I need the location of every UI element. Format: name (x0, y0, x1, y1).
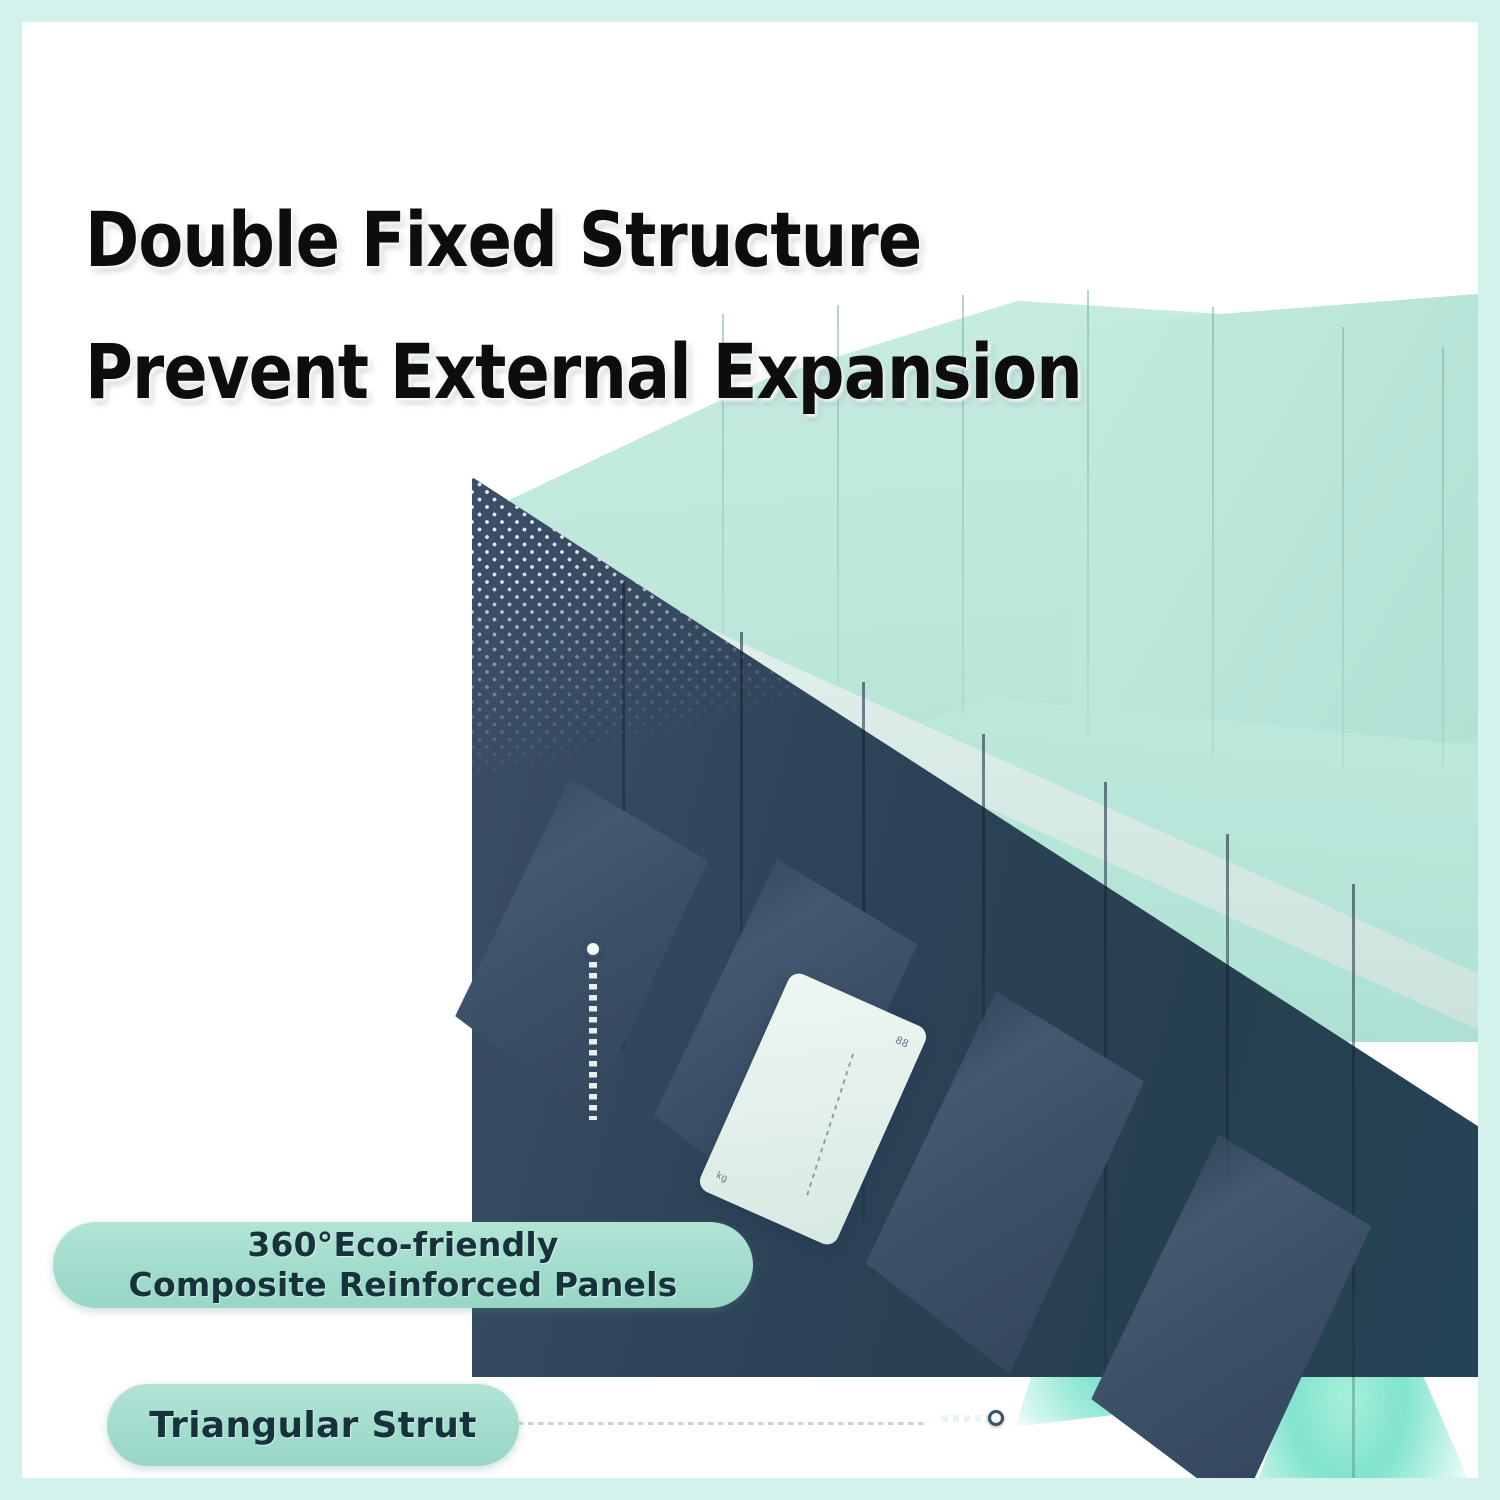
image-border-frame: 88 kg Double Fixed Structure Prevent Ext… (0, 0, 1500, 1500)
horizontal-dotted-leader (942, 1415, 990, 1422)
headline-line-2: Prevent External Expansion (85, 334, 1169, 410)
circle-marker (584, 940, 602, 958)
badge-eco-friendly-panels: 360°Eco-friendly Composite Reinforced Pa… (53, 1222, 753, 1308)
badge-strut-label: Triangular Strut (149, 1405, 476, 1446)
exterior-wall-seam (1352, 884, 1355, 1478)
vertical-dotted-leader (589, 962, 597, 1120)
card-dotted-line (806, 1054, 854, 1197)
badge-leader-line (508, 1422, 928, 1425)
card-mark-top-right: 88 (894, 1034, 911, 1050)
badge-eco-line-1: 360°Eco-friendly (247, 1225, 558, 1265)
interior-seam (1442, 347, 1444, 767)
headline-line-1: Double Fixed Structure (85, 202, 1169, 278)
headline-block: Double Fixed Structure Prevent External … (85, 202, 1345, 410)
image-canvas: 88 kg Double Fixed Structure Prevent Ext… (22, 22, 1478, 1478)
badge-triangular-strut: Triangular Strut (107, 1384, 519, 1466)
card-mark-bottom-left: kg (715, 1170, 730, 1185)
circle-marker (988, 1410, 1004, 1426)
badge-eco-line-2: Composite Reinforced Panels (129, 1265, 678, 1305)
